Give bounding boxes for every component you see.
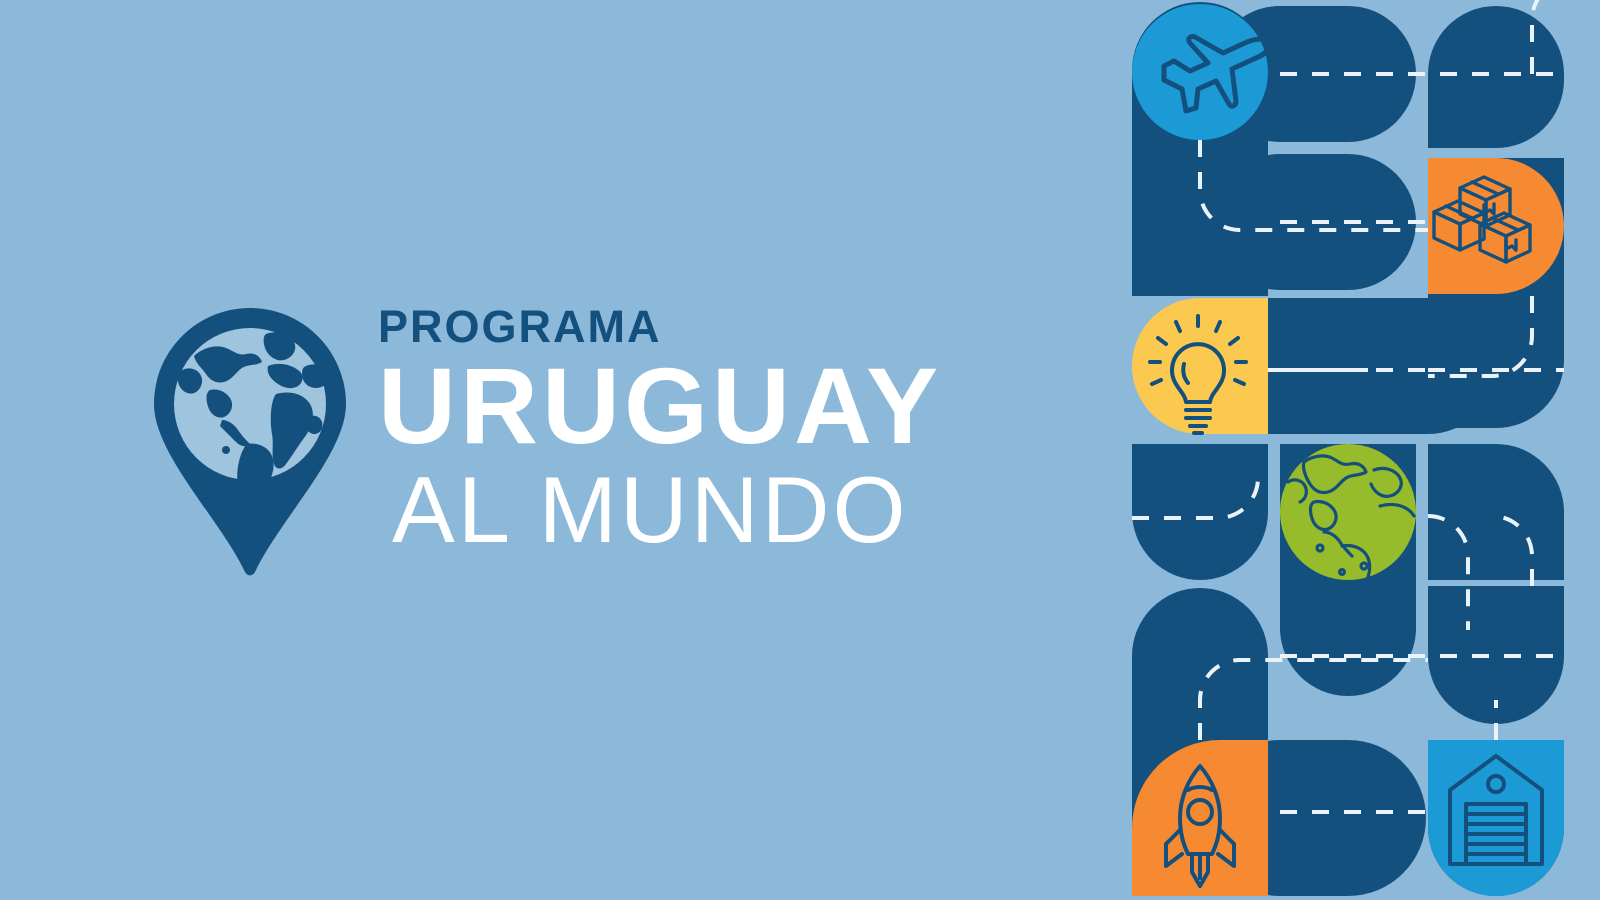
banner-root: PROGRAMA URUGUAY AL MUNDO <box>0 0 1600 900</box>
boxes-icon <box>1428 158 1564 294</box>
program-kicker: PROGRAMA <box>378 304 942 349</box>
tile-col1-row4 <box>1132 444 1268 580</box>
brand-title-secondary: AL MUNDO <box>392 461 942 560</box>
warehouse-icon <box>1428 740 1564 896</box>
logistics-icon-mosaic <box>1128 0 1600 900</box>
tile-col3-row4 <box>1428 444 1564 580</box>
logo-lockup: PROGRAMA URUGUAY AL MUNDO <box>150 296 1050 586</box>
tile-col3-row1 <box>1428 6 1564 148</box>
lightbulb-icon <box>1132 298 1268 434</box>
wordmark: PROGRAMA URUGUAY AL MUNDO <box>378 304 942 560</box>
tile-col1-row3 <box>1268 298 1496 434</box>
brand-title-primary: URUGUAY <box>378 351 942 461</box>
globe-map-pin-logo <box>150 304 350 579</box>
airplane-icon <box>1132 4 1269 140</box>
